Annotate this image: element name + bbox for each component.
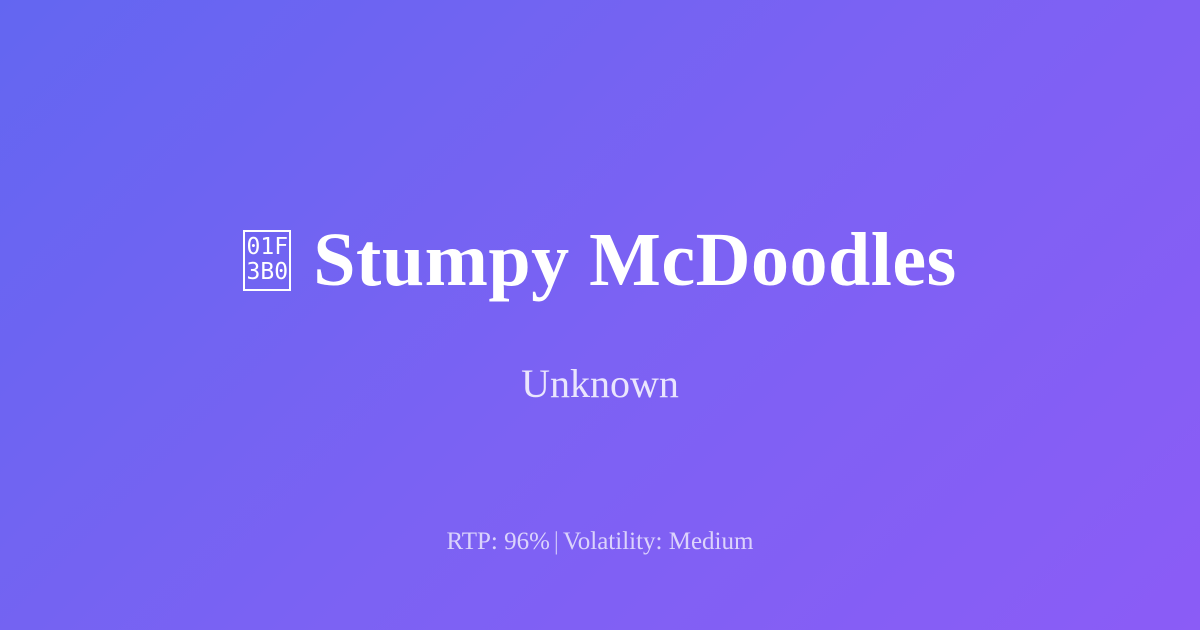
tofu-codepoint-top: 01F [247,235,289,260]
title-inner: 01F 3B0 Stumpy McDoodles [243,171,956,349]
tofu-codepoint-bottom: 3B0 [247,260,289,285]
volatility-label: Volatility: Medium [563,528,754,555]
share-card: 01F 3B0 Stumpy McDoodles Unknown RTP: 96… [0,0,1200,630]
slot-machine-emoji-icon: 01F 3B0 [243,230,291,291]
provider-subtitle: Unknown [0,362,1200,406]
meta-separator: | [550,528,563,555]
page-title: Stumpy McDoodles [313,222,956,298]
rtp-label: RTP: 96% [447,528,550,555]
meta-footer: RTP: 96%|Volatility: Medium [0,527,1200,557]
